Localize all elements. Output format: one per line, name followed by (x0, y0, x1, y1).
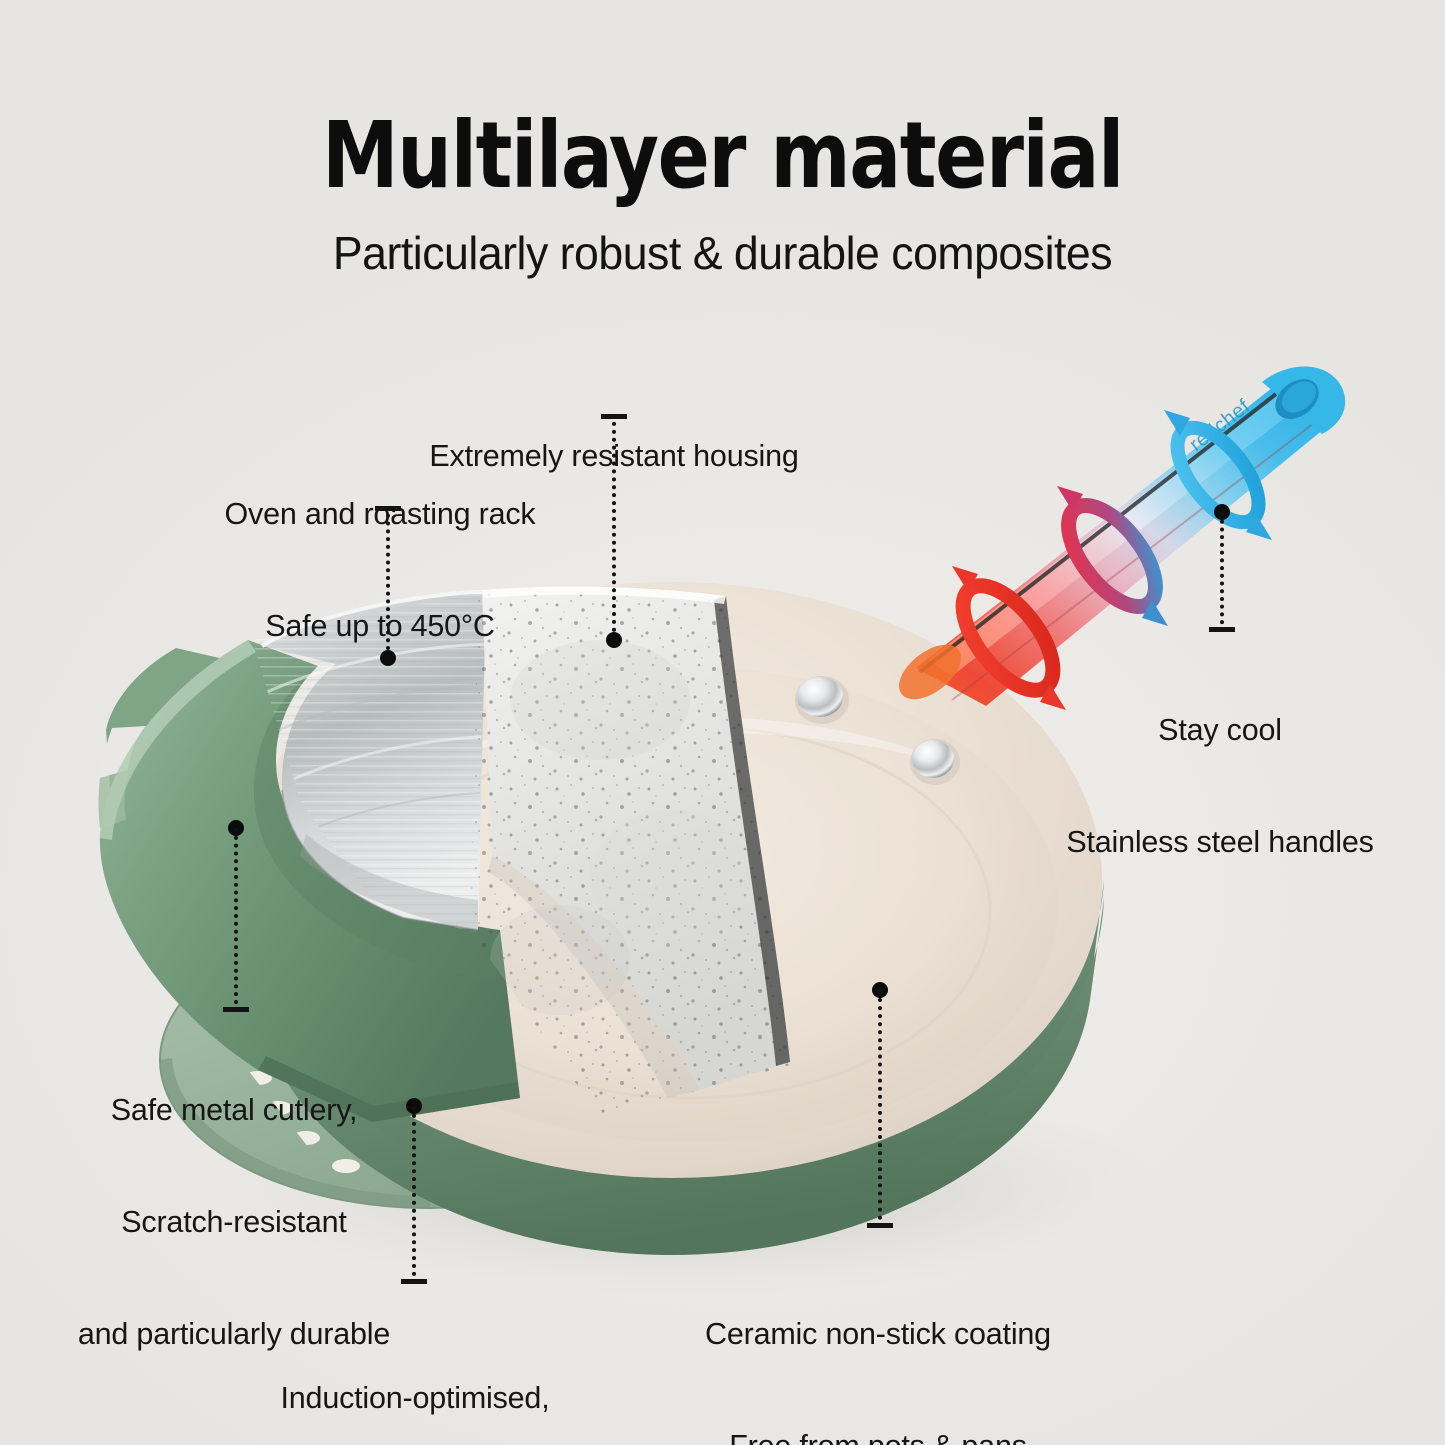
annotation-line: Stay cool (1000, 712, 1440, 749)
annotation-induction-optimised: Induction-optimised, Cooking on all hob … (184, 1306, 646, 1445)
annotation-line: Oven and roasting rack (100, 496, 660, 533)
annotation-ceramic-non-stick: Ceramic non-stick coating Free from pots… (648, 1242, 1108, 1445)
rivet-1 (797, 677, 843, 717)
leader-ceramic-non-stick (866, 990, 894, 1228)
leader-safe-metal-cutlery (222, 828, 250, 1012)
annotation-line: Free from pots & pans (648, 1428, 1108, 1445)
annotation-line: Safe metal cutlery, (24, 1092, 444, 1129)
rivet-2 (912, 740, 954, 778)
annotation-stay-cool-handles: Stay cool Stainless steel handles (1000, 638, 1440, 936)
infographic-canvas: Multilayer material Particularly robust … (0, 0, 1445, 1445)
annotation-line: Scratch-resistant (24, 1204, 444, 1241)
annotation-line: Safe up to 450°C (100, 608, 660, 645)
annotation-oven-roasting-rack: Oven and roasting rack Safe up to 450°C (100, 422, 660, 720)
annotation-line: Ceramic non-stick coating (648, 1316, 1108, 1353)
annotation-line: Stainless steel handles (1000, 824, 1440, 861)
leader-stay-cool-handles (1208, 512, 1236, 632)
annotation-line: Induction-optimised, (184, 1380, 646, 1417)
